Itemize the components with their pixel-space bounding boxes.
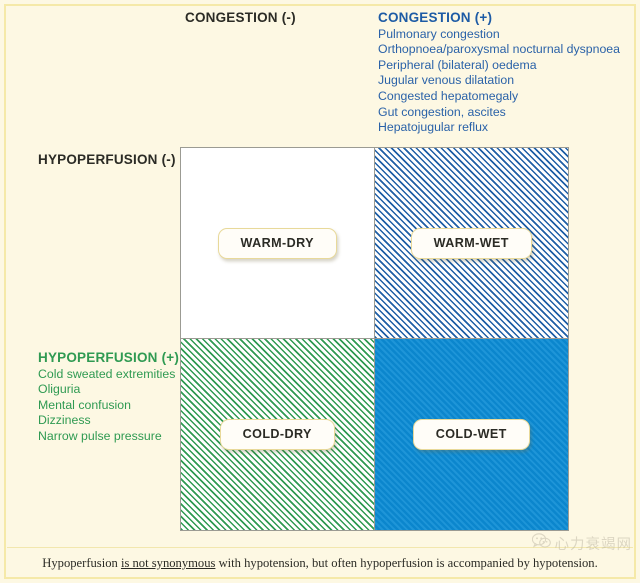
congestion-negative-heading: CONGESTION (-) bbox=[185, 10, 296, 25]
watermark-text: 心力衰竭网 bbox=[555, 533, 633, 554]
congestion-positive-heading: CONGESTION (+) bbox=[378, 10, 636, 26]
hypoperfusion-positive-block: HYPOPERFUSION (+) Cold sweated extremiti… bbox=[38, 350, 188, 445]
congestion-positive-block: CONGESTION (+) Pulmonary congestion Orth… bbox=[378, 10, 636, 136]
hypoperfusion-symptom-item: Dizziness bbox=[38, 413, 188, 429]
diagram-canvas: CONGESTION (-) CONGESTION (+) Pulmonary … bbox=[0, 0, 640, 583]
hypoperfusion-symptom-item: Oliguria bbox=[38, 382, 188, 398]
footer-note-part2: with hypotension, but often hypoperfusio… bbox=[215, 556, 597, 570]
watermark: 心力衰竭网 bbox=[532, 533, 633, 554]
footer-note-part1: Hypoperfusion bbox=[42, 556, 121, 570]
hypoperfusion-symptom-item: Mental confusion bbox=[38, 398, 188, 414]
wechat-icon bbox=[532, 533, 551, 554]
quadrant-warm-wet[interactable]: WARM-WET bbox=[375, 148, 569, 339]
congestion-symptom-item: Peripheral (bilateral) oedema bbox=[378, 58, 636, 74]
footer-note: Hypoperfusion is not synonymous with hyp… bbox=[0, 556, 640, 571]
quadrant-label-cold-dry: COLD-DRY bbox=[220, 419, 335, 450]
quadrant-cold-dry[interactable]: COLD-DRY bbox=[181, 339, 375, 530]
quadrant-label-warm-wet: WARM-WET bbox=[411, 228, 532, 259]
hypoperfusion-negative-heading: HYPOPERFUSION (-) bbox=[38, 152, 176, 167]
footer-divider bbox=[7, 547, 633, 548]
congestion-symptom-item: Orthopnoea/paroxysmal nocturnal dyspnoea bbox=[378, 42, 636, 58]
hypoperfusion-symptom-item: Cold sweated extremities bbox=[38, 367, 188, 383]
quadrant-cold-wet[interactable]: COLD-WET bbox=[375, 339, 569, 530]
quadrant-label-warm-dry: WARM-DRY bbox=[218, 228, 337, 259]
congestion-symptom-item: Gut congestion, ascites bbox=[378, 105, 636, 121]
hypoperfusion-symptom-item: Narrow pulse pressure bbox=[38, 429, 188, 445]
quadrant-warm-dry[interactable]: WARM-DRY bbox=[181, 148, 375, 339]
hypoperfusion-positive-heading: HYPOPERFUSION (+) bbox=[38, 350, 188, 366]
congestion-symptom-item: Pulmonary congestion bbox=[378, 27, 636, 43]
congestion-symptom-item: Congested hepatomegaly bbox=[378, 89, 636, 105]
congestion-symptom-item: Jugular venous dilatation bbox=[378, 73, 636, 89]
footer-note-underlined: is not synonymous bbox=[121, 556, 215, 570]
quadrant-grid: WARM-DRY WARM-WET COLD-DRY COLD-WET bbox=[180, 147, 569, 531]
congestion-symptom-item: Hepatojugular reflux bbox=[378, 120, 636, 136]
quadrant-label-cold-wet: COLD-WET bbox=[413, 419, 530, 450]
